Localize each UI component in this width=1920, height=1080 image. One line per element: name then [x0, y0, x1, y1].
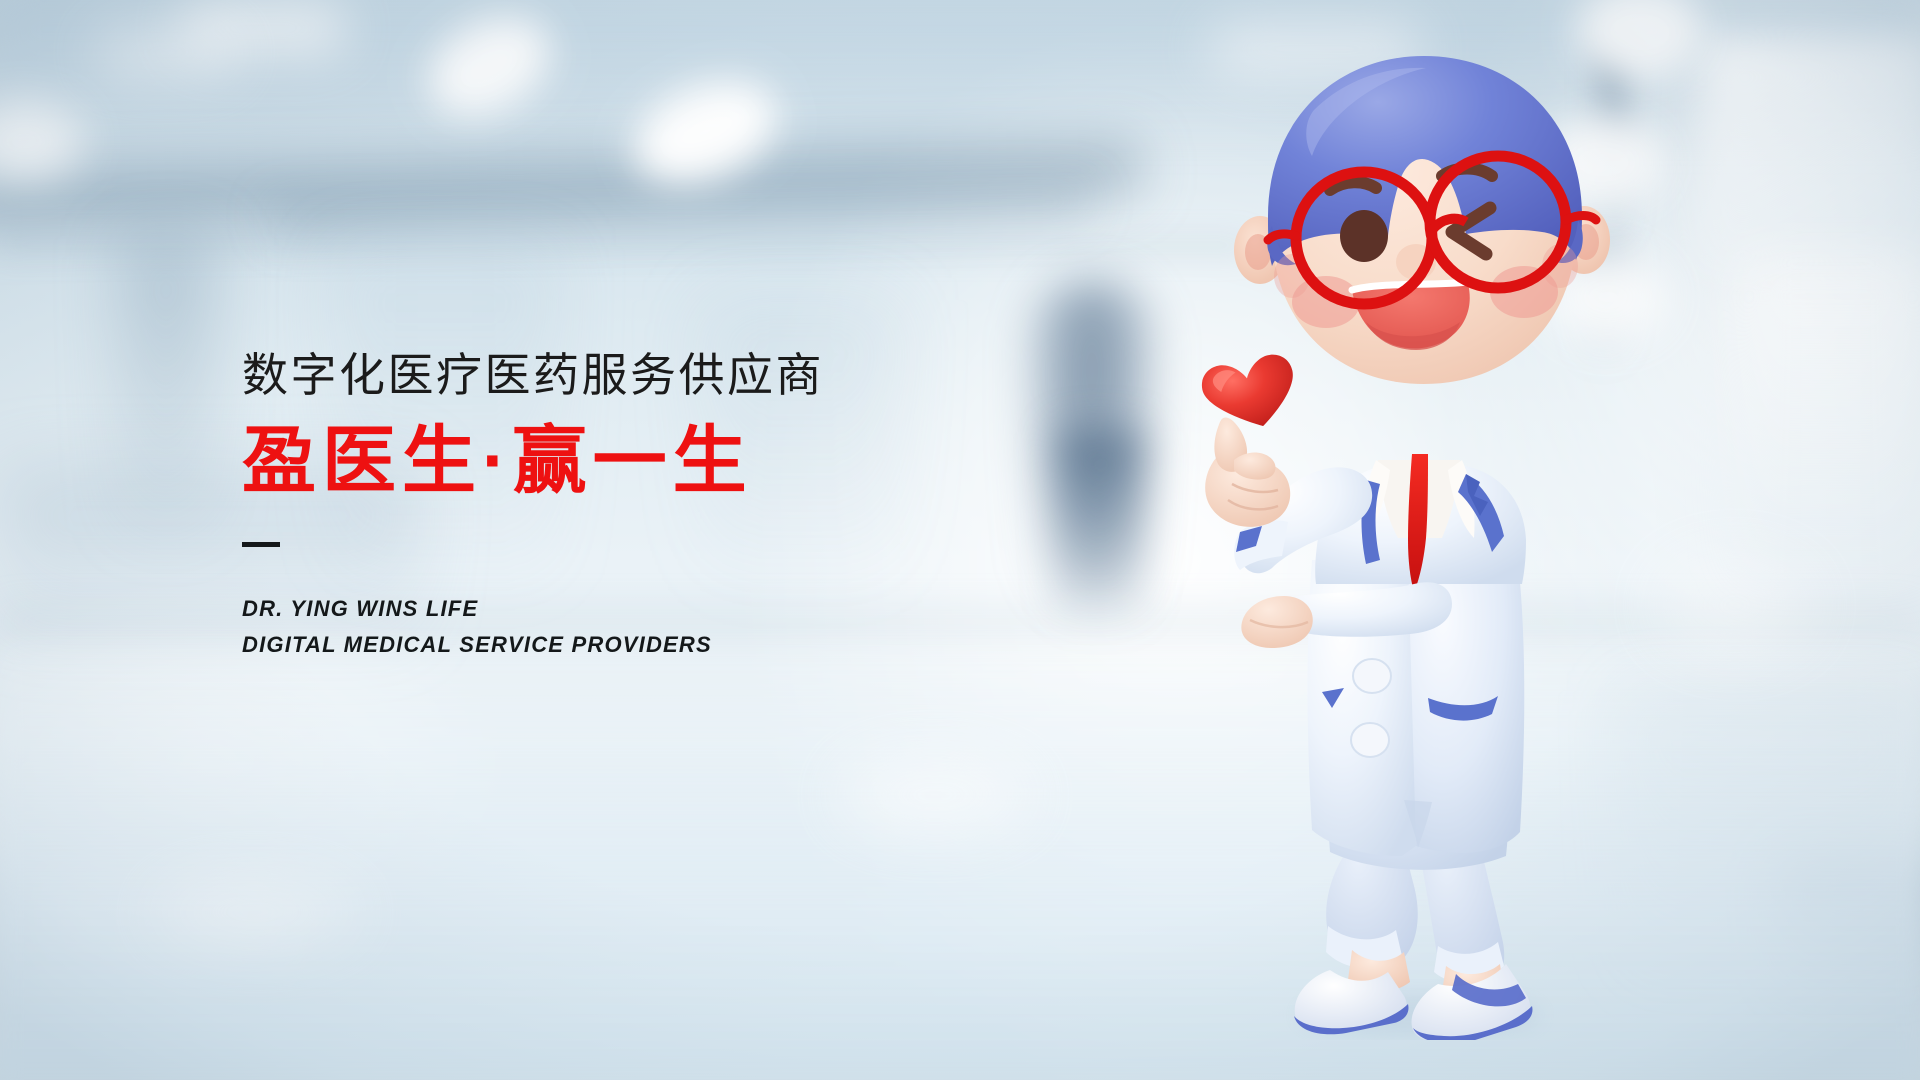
hero-banner: 数字化医疗医药服务供应商 盈医生·赢一生 DR. YING WINS LIFE …: [0, 0, 1920, 1080]
doctor-mascot-illustration: [1180, 40, 1660, 1040]
hero-subtitle-english: DR. YING WINS LIFE DIGITAL MEDICAL SERVI…: [242, 591, 824, 663]
hero-headline-chinese: 数字化医疗医药服务供应商: [242, 352, 824, 398]
floating-red-heart: [1198, 351, 1302, 437]
page-title: 盈医生·赢一生: [242, 424, 824, 498]
title-divider-rule: [242, 542, 280, 547]
hero-subtitle-line-1: DR. YING WINS LIFE: [242, 591, 824, 627]
left-eye-open: [1340, 210, 1388, 262]
hero-copy-block: 数字化医疗医药服务供应商 盈医生·赢一生 DR. YING WINS LIFE …: [242, 352, 824, 663]
glasses-temple-right: [1566, 216, 1596, 221]
mascot-head: [1234, 56, 1610, 384]
hero-subtitle-line-2: DIGITAL MEDICAL SERVICE PROVIDERS: [242, 627, 824, 663]
coat-button-bottom: [1351, 723, 1389, 757]
coat-button-top: [1353, 659, 1391, 693]
